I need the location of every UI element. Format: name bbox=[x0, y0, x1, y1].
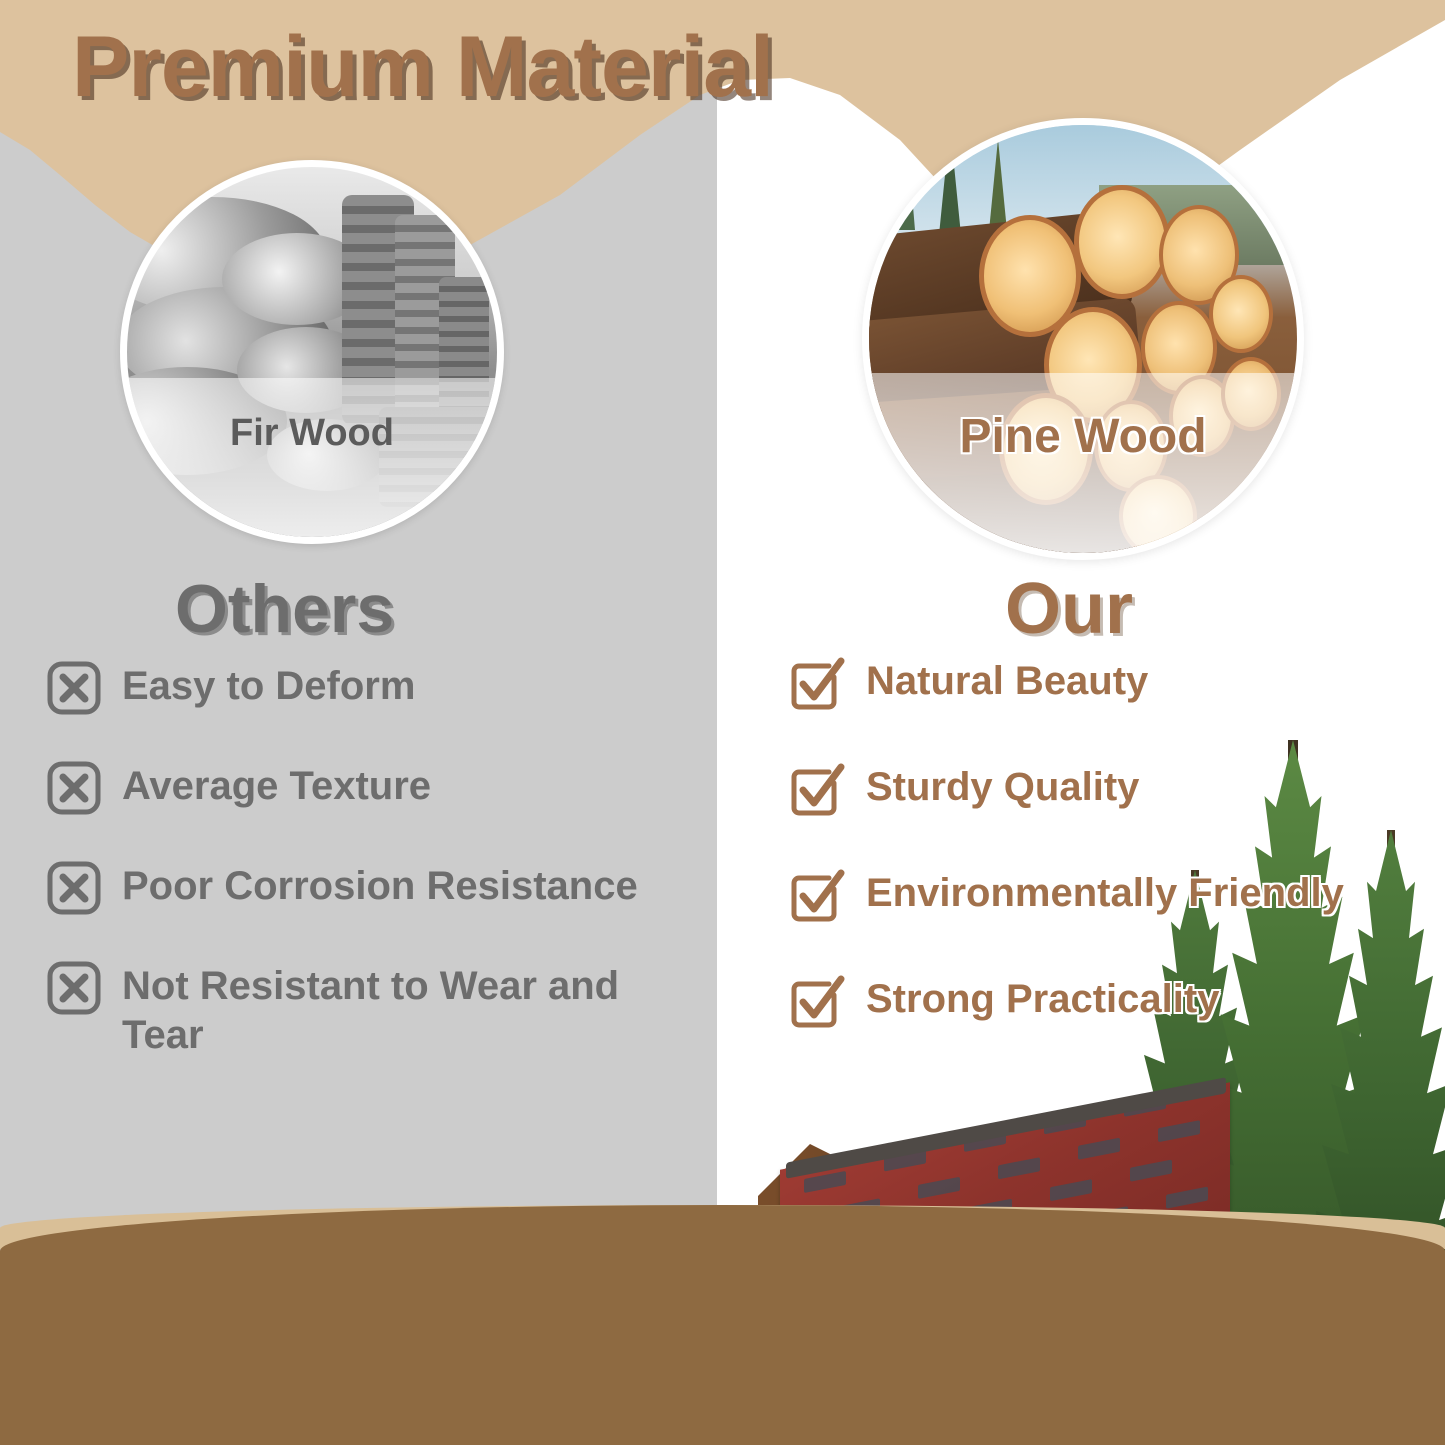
x-box-icon bbox=[46, 760, 102, 816]
pine-wood-photo-circle: Pine Wood bbox=[862, 118, 1304, 560]
check-box-icon bbox=[788, 867, 846, 925]
fir-wood-photo-circle: Fir Wood bbox=[120, 160, 504, 544]
pine-wood-caption: Pine Wood bbox=[869, 373, 1297, 553]
others-feature-list: Easy to Deform Average Texture Poor bbox=[46, 660, 706, 1060]
list-item: Natural Beauty bbox=[788, 655, 1428, 713]
check-box-icon bbox=[788, 655, 846, 713]
list-item-label: Sturdy Quality bbox=[866, 761, 1139, 812]
list-item: Poor Corrosion Resistance bbox=[46, 860, 706, 916]
x-box-icon bbox=[46, 660, 102, 716]
list-item: Environmentally Friendly bbox=[788, 867, 1428, 925]
our-heading: Our bbox=[1005, 568, 1133, 650]
list-item-label: Natural Beauty bbox=[866, 655, 1148, 706]
list-item: Sturdy Quality bbox=[788, 761, 1428, 819]
our-feature-list: Natural Beauty Sturdy Quality Environmen… bbox=[788, 655, 1428, 1079]
infographic-canvas: Premium Material Fir Wood bbox=[0, 0, 1445, 1445]
list-item-label: Easy to Deform bbox=[122, 660, 415, 711]
list-item: Not Resistant to Wear and Tear bbox=[46, 960, 706, 1060]
page-title: Premium Material bbox=[72, 18, 773, 117]
list-item-label: Not Resistant to Wear and Tear bbox=[122, 960, 682, 1060]
x-box-icon bbox=[46, 860, 102, 916]
footer-brown-band bbox=[0, 1205, 1445, 1445]
list-item: Easy to Deform bbox=[46, 660, 706, 716]
list-item-label: Environmentally Friendly bbox=[866, 867, 1344, 918]
list-item-label: Strong Practicality bbox=[866, 973, 1219, 1024]
list-item: Average Texture bbox=[46, 760, 706, 816]
x-box-icon bbox=[46, 960, 102, 1016]
list-item: Strong Practicality bbox=[788, 973, 1428, 1031]
fir-wood-caption: Fir Wood bbox=[127, 378, 497, 537]
check-box-icon bbox=[788, 761, 846, 819]
list-item-label: Poor Corrosion Resistance bbox=[122, 860, 638, 911]
others-heading: Others bbox=[175, 570, 394, 648]
list-item-label: Average Texture bbox=[122, 760, 431, 811]
check-box-icon bbox=[788, 973, 846, 1031]
